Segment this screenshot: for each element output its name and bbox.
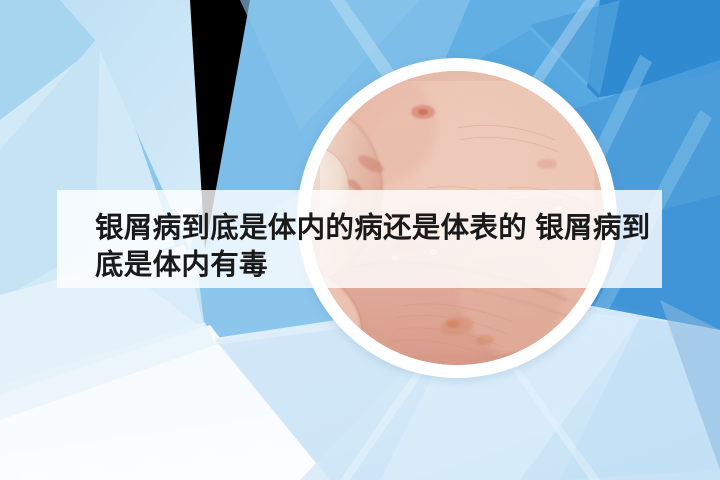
article-thumbnail-card: 银屑病到底是体内的病还是体表的 银屑病到底是体内有毒 [0, 0, 720, 480]
page-title: 银屑病到底是体内的病还是体表的 银屑病到底是体内有毒 [95, 210, 655, 284]
